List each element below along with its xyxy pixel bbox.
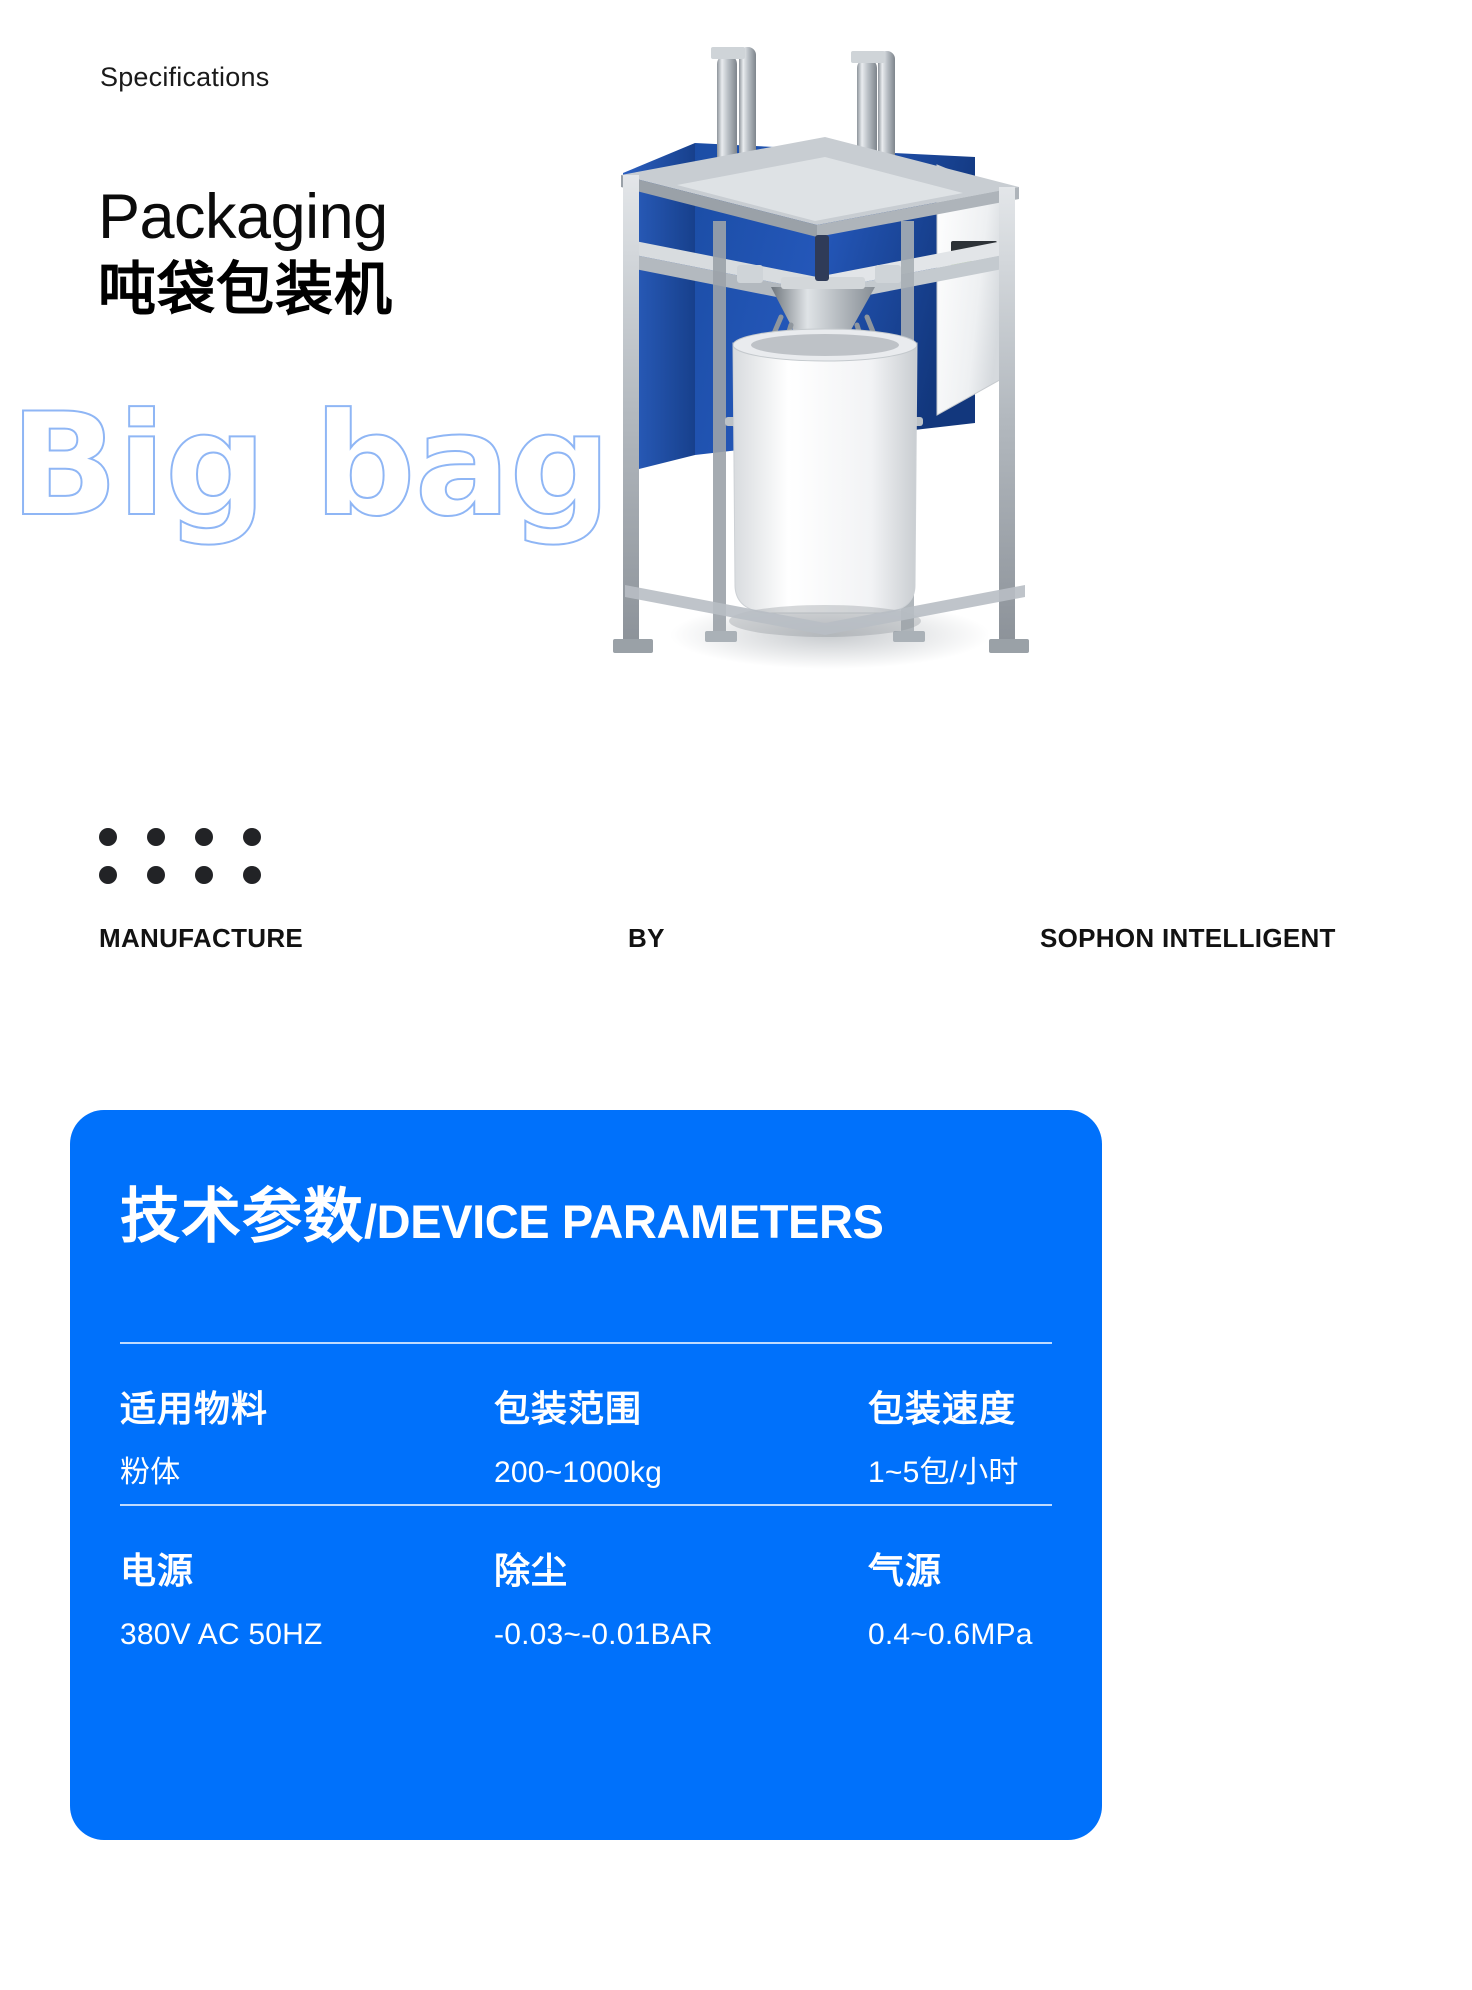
decorative-dot-grid	[99, 828, 291, 904]
parameter-cell-power: 电源 380V AC 50HZ	[120, 1550, 494, 1653]
big-bag-packaging-machine-illustration	[585, 25, 1055, 725]
parameter-cell-range: 包装范围 200~1000kg	[494, 1388, 868, 1491]
tagline-word-manufacture: MANUFACTURE	[99, 923, 303, 954]
product-title-block: Packaging 吨袋包装机	[98, 185, 393, 323]
dot	[99, 828, 117, 846]
brand-tagline: MANUFACTURE BY SOPHON INTELLIGENT	[0, 923, 1472, 963]
parameter-value: -0.03~-0.01BAR	[494, 1617, 868, 1653]
divider-middle	[120, 1504, 1052, 1506]
dot	[99, 866, 117, 884]
parameter-label: 适用物料	[120, 1388, 494, 1431]
parameter-label: 除尘	[494, 1550, 868, 1593]
parameter-label: 气源	[868, 1550, 1033, 1593]
parameter-value: 粉体	[120, 1455, 494, 1491]
bag-mouth-inner	[751, 334, 899, 356]
parameter-label: 包装范围	[494, 1388, 868, 1431]
parameter-value: 0.4~0.6MPa	[868, 1617, 1033, 1653]
parameter-label: 包装速度	[868, 1388, 1019, 1431]
device-parameters-panel: 技术参数 /DEVICE PARAMETERS 适用物料 粉体 包装范围 200…	[70, 1110, 1102, 1840]
parameter-row: 适用物料 粉体 包装范围 200~1000kg 包装速度 1~5包/小时	[120, 1388, 1052, 1491]
parameter-value: 1~5包/小时	[868, 1455, 1019, 1491]
decorative-outline-text: Big bag	[10, 395, 610, 537]
parameter-cell-dust: 除尘 -0.03~-0.01BAR	[494, 1550, 868, 1653]
parameter-row: 电源 380V AC 50HZ 除尘 -0.03~-0.01BAR 气源 0.4…	[120, 1550, 1052, 1653]
dot	[195, 866, 213, 884]
divider-top	[120, 1342, 1052, 1344]
dot	[147, 866, 165, 884]
dot	[243, 828, 261, 846]
tagline-word-by: BY	[628, 923, 665, 954]
product-photo	[585, 25, 1055, 725]
big-bag	[733, 343, 917, 613]
hero-section: Specifications Packaging 吨袋包装机 Big bag M…	[0, 0, 1472, 1060]
dot	[243, 866, 261, 884]
parameter-value: 380V AC 50HZ	[120, 1617, 494, 1653]
dot	[195, 828, 213, 846]
tagline-word-company: SOPHON INTELLIGENT	[1040, 923, 1336, 954]
page-title: Specifications	[100, 62, 269, 93]
product-title-english: Packaging	[98, 185, 393, 251]
product-title-chinese: 吨袋包装机	[98, 255, 393, 323]
parameter-cell-air: 气源 0.4~0.6MPa	[868, 1550, 1033, 1653]
parameters-heading-english: /DEVICE PARAMETERS	[364, 1198, 883, 1245]
dot	[147, 828, 165, 846]
parameter-cell-material: 适用物料 粉体	[120, 1388, 494, 1491]
parameters-heading: 技术参数 /DEVICE PARAMETERS	[120, 1187, 883, 1247]
parameter-label: 电源	[120, 1550, 494, 1593]
parameters-heading-chinese: 技术参数	[120, 1187, 364, 1247]
parameter-value: 200~1000kg	[494, 1455, 868, 1491]
parameter-cell-speed: 包装速度 1~5包/小时	[868, 1388, 1019, 1491]
